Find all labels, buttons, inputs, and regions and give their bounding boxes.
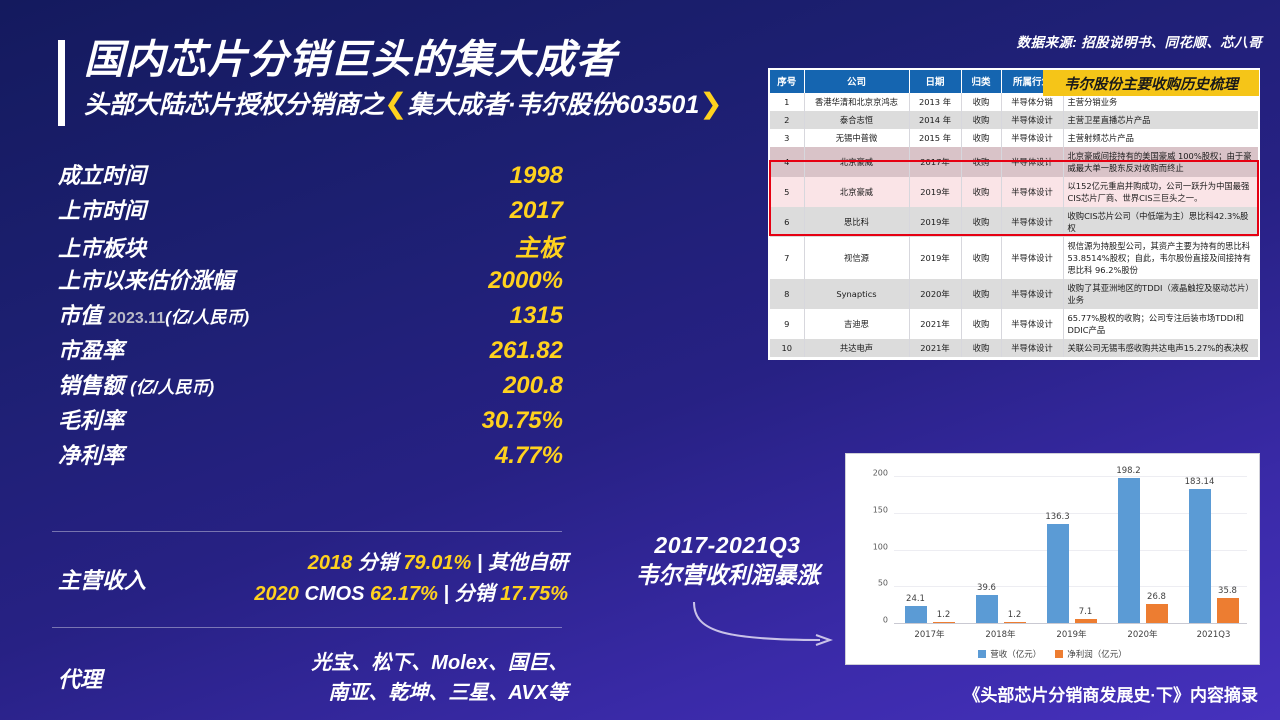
- bar-revenue: [1118, 478, 1140, 624]
- acquisition-table-container: 序号 公司 日期 归类 所属行业 1香港华清和北京京鸿志2013 年收购半导体分…: [768, 68, 1260, 360]
- stat-unit: (亿/人民币): [165, 308, 249, 327]
- page-header: 国内芯片分销巨头的集大成者 头部大陆芯片授权分销商之❮集大成者·韦尔股份6035…: [58, 36, 723, 121]
- chart-x-tick: 2020年: [1127, 628, 1157, 640]
- stat-unit: (亿/人民币): [130, 378, 214, 397]
- legend-label-profit: 净利润（亿元）: [1067, 648, 1127, 660]
- bar-label-revenue: 183.14: [1185, 477, 1215, 487]
- stat-row: 成立时间 1998: [58, 158, 563, 193]
- cell-industry: 半导体设计: [1001, 177, 1063, 207]
- bar-profit: [1146, 604, 1168, 624]
- bar-label-profit: 1.2: [1008, 610, 1022, 620]
- cell-type: 收购: [961, 339, 1001, 357]
- legend-swatch-revenue: [978, 650, 986, 658]
- cell-company: Synaptics: [804, 279, 909, 309]
- cell-industry: 半导体设计: [1001, 129, 1063, 147]
- cell-type: 收购: [961, 237, 1001, 279]
- stat-row: 上市以来估价涨幅 2000%: [58, 263, 563, 298]
- cell-no: 4: [770, 147, 804, 177]
- cell-desc: 视信源为持股型公司，其资产主要为持有的思比科53.8514%股权；自此，韦尔股份…: [1063, 237, 1258, 279]
- table-row: 8Synaptics2020年收购半导体设计收购了其亚洲地区的TDDI（液晶触控…: [770, 279, 1258, 309]
- revenue-sep: |: [443, 583, 449, 605]
- cell-desc: 收购了其亚洲地区的TDDI（液晶触控及驱动芯片）业务: [1063, 279, 1258, 309]
- agent-body: 光宝、松下、Molex、国巨、 南亚、乾坤、三星、AVX等: [208, 648, 568, 708]
- column-header-date: 日期: [909, 70, 961, 93]
- stat-label: 上市以来估价涨幅: [58, 263, 234, 295]
- bar-label-profit: 1.2: [937, 610, 951, 620]
- cell-industry: 半导体设计: [1001, 207, 1063, 237]
- cell-date: 2019年: [909, 207, 961, 237]
- cell-no: 7: [770, 237, 804, 279]
- chart-y-tick: 150: [856, 505, 888, 514]
- stat-value: 2017: [510, 197, 563, 225]
- cell-industry: 半导体设计: [1001, 111, 1063, 129]
- cell-type: 收购: [961, 147, 1001, 177]
- stat-value: 30.75%: [482, 407, 563, 435]
- legend-label-revenue: 营收（亿元）: [990, 648, 1041, 660]
- table-row: 2泰合志恒2014 年收购半导体设计主营卫星直播芯片产品: [770, 111, 1258, 129]
- agent-line-2: 南亚、乾坤、三星、AVX等: [208, 678, 568, 708]
- cell-date: 2019年: [909, 237, 961, 279]
- cell-no: 2: [770, 111, 804, 129]
- table-row: 6思比科2019年收购半导体设计收购CIS芯片公司（中低端为主）思比科42.3%…: [770, 207, 1258, 237]
- stat-label: 市盈率: [58, 333, 124, 365]
- curved-arrow-icon: [690, 600, 850, 650]
- table-banner: 韦尔股份主要收购历史梳理: [1043, 70, 1259, 96]
- cell-no: 5: [770, 177, 804, 207]
- main-revenue-label: 主营收入: [58, 563, 208, 595]
- subtitle-prefix: 头部大陆芯片授权分销商之: [84, 91, 384, 119]
- chart-y-tick: 200: [856, 469, 888, 478]
- stat-note: 2023.11: [108, 310, 165, 327]
- cell-company: 泰合志恒: [804, 111, 909, 129]
- stat-label: 销售额 (亿/人民币): [58, 368, 214, 400]
- legend-item-revenue: 营收（亿元）: [978, 648, 1041, 660]
- cell-company: 共达电声: [804, 339, 909, 357]
- legend-swatch-profit: [1055, 650, 1063, 658]
- revenue-year: 2018: [308, 552, 353, 574]
- revenue-seg1-name: CMOS: [304, 583, 364, 605]
- stat-label: 市值 2023.11(亿/人民币): [58, 298, 249, 330]
- stat-label: 上市板块: [58, 231, 146, 263]
- chart-x-tick: 2018年: [985, 628, 1015, 640]
- divider: [52, 627, 562, 628]
- cell-industry: 半导体设计: [1001, 279, 1063, 309]
- cell-date: 2021年: [909, 339, 961, 357]
- divider: [52, 531, 562, 532]
- table-row: 3无锡中普微2015 年收购半导体设计主营射频芯片产品: [770, 129, 1258, 147]
- cell-date: 2019年: [909, 177, 961, 207]
- chevron-left-icon: ❮: [384, 88, 407, 119]
- bar-label-revenue: 198.2: [1116, 466, 1140, 476]
- cell-desc: 主营卫星直播芯片产品: [1063, 111, 1258, 129]
- cell-no: 1: [770, 93, 804, 111]
- bar-label-revenue: 39.6: [977, 583, 996, 593]
- bar-label-revenue: 24.1: [906, 594, 925, 604]
- table-row: 10共达电声2021年收购半导体设计关联公司无锡韦感收购共达电声15.27%的表…: [770, 339, 1258, 357]
- cell-type: 收购: [961, 177, 1001, 207]
- chart-x-tick: 2021Q3: [1197, 630, 1231, 640]
- legend-item-profit: 净利润（亿元）: [1055, 648, 1127, 660]
- agent-label: 代理: [58, 662, 208, 694]
- chart-legend: 营收（亿元） 净利润（亿元）: [846, 648, 1259, 660]
- chart-annotation-line1: 2017-2021Q3: [620, 530, 835, 560]
- chart-axis-line: [894, 623, 1247, 624]
- cell-company: 香港华清和北京京鸿志: [804, 93, 909, 111]
- cell-date: 2015 年: [909, 129, 961, 147]
- stat-row: 销售额 (亿/人民币) 200.8: [58, 368, 563, 403]
- cell-type: 收购: [961, 93, 1001, 111]
- stat-value: 4.77%: [495, 442, 563, 470]
- title-accent-bar: [58, 40, 65, 126]
- chart-annotation-line2: 韦尔营收利润暴涨: [620, 560, 835, 590]
- cell-industry: 半导体设计: [1001, 309, 1063, 339]
- subtitle-highlight: 集大成者·韦尔股份603501: [407, 91, 699, 119]
- bar-label-profit: 26.8: [1147, 592, 1166, 602]
- data-source-label: 数据来源: 招股说明书、同花顺、芯八哥: [1017, 31, 1262, 51]
- stat-value: 1998: [510, 162, 563, 190]
- page-title: 国内芯片分销巨头的集大成者: [84, 36, 723, 84]
- cell-type: 收购: [961, 111, 1001, 129]
- revenue-line-2020: 2020 CMOS 62.17% | 分销 17.75%: [208, 579, 568, 610]
- revenue-line-2018: 2018 分销 79.01% | 其他自研: [208, 548, 568, 579]
- bar-revenue: [1047, 524, 1069, 624]
- stat-value: 200.8: [503, 372, 563, 400]
- cell-no: 3: [770, 129, 804, 147]
- stat-row: 净利率 4.77%: [58, 438, 563, 473]
- stat-row: 市盈率 261.82: [58, 333, 563, 368]
- cell-type: 收购: [961, 279, 1001, 309]
- revenue-seg2-name: 分销: [455, 583, 495, 605]
- cell-company: 视信源: [804, 237, 909, 279]
- revenue-seg1-name: 分销: [358, 552, 398, 574]
- column-header-no: 序号: [770, 70, 804, 93]
- bar-revenue: [905, 606, 927, 624]
- page-subtitle: 头部大陆芯片授权分销商之❮集大成者·韦尔股份603501❯: [84, 88, 723, 121]
- revenue-sep: |: [477, 552, 483, 574]
- cell-type: 收购: [961, 309, 1001, 339]
- cell-desc: 65.77%股权的收购；公司专注后装市场TDDI和DDIC产品: [1063, 309, 1258, 339]
- bar-label-profit: 35.8: [1218, 586, 1237, 596]
- cell-date: 2017年: [909, 147, 961, 177]
- bar-label-revenue: 136.3: [1045, 512, 1069, 522]
- chart-annotation: 2017-2021Q3 韦尔营收利润暴涨: [620, 530, 835, 590]
- acquisition-table: 序号 公司 日期 归类 所属行业 1香港华清和北京京鸿志2013 年收购半导体分…: [770, 70, 1258, 357]
- column-header-type: 归类: [961, 70, 1001, 93]
- cell-desc: 关联公司无锡韦感收购共达电声15.27%的表决权: [1063, 339, 1258, 357]
- main-revenue-block: 主营收入 2018 分销 79.01% | 其他自研 2020 CMOS 62.…: [58, 548, 568, 610]
- main-revenue-body: 2018 分销 79.01% | 其他自研 2020 CMOS 62.17% |…: [208, 548, 568, 610]
- stat-label: 净利率: [58, 438, 124, 470]
- stat-row: 上市板块 主板: [58, 228, 563, 263]
- cell-date: 2020年: [909, 279, 961, 309]
- revenue-seg2-value: 17.75%: [500, 583, 568, 605]
- cell-industry: 半导体设计: [1001, 237, 1063, 279]
- column-header-company: 公司: [804, 70, 909, 93]
- revenue-seg2-name: 其他自研: [488, 552, 568, 574]
- cell-date: 2013 年: [909, 93, 961, 111]
- stat-value: 2000%: [488, 267, 563, 295]
- agent-line-1: 光宝、松下、Molex、国巨、: [208, 648, 568, 678]
- revenue-profit-chart: 05010015020024.11.22017年39.61.22018年136.…: [845, 453, 1260, 665]
- cell-desc: 以152亿元重启并购成功，公司一跃升为中国最强CIS芯片厂商、世界CIS三巨头之…: [1063, 177, 1258, 207]
- chart-y-tick: 50: [856, 579, 888, 588]
- stat-value: 261.82: [490, 337, 563, 365]
- stat-value: 1315: [510, 302, 563, 330]
- cell-no: 8: [770, 279, 804, 309]
- table-row: 9吉迪思2021年收购半导体设计65.77%股权的收购；公司专注后装市场TDDI…: [770, 309, 1258, 339]
- cell-industry: 半导体设计: [1001, 339, 1063, 357]
- stats-list: 成立时间 1998 上市时间 2017 上市板块 主板 上市以来估价涨幅 200…: [58, 158, 563, 473]
- cell-company: 北京豪威: [804, 147, 909, 177]
- table-row: 4北京豪威2017年收购半导体设计北京豪威间接持有的美国豪威 100%股权；由于…: [770, 147, 1258, 177]
- bar-revenue: [1189, 489, 1211, 624]
- stat-label: 成立时间: [58, 158, 146, 190]
- bar-revenue: [976, 595, 998, 624]
- cell-date: 2014 年: [909, 111, 961, 129]
- revenue-year: 2020: [254, 583, 299, 605]
- chart-y-tick: 100: [856, 542, 888, 551]
- cell-desc: 北京豪威间接持有的美国豪威 100%股权；由于豪威最大单一股东反对收购而终止: [1063, 147, 1258, 177]
- cell-company: 无锡中普微: [804, 129, 909, 147]
- cell-desc: 收购CIS芯片公司（中低端为主）思比科42.3%股权: [1063, 207, 1258, 237]
- stat-value: 主板: [515, 228, 563, 263]
- bar-profit: [1217, 598, 1239, 624]
- cell-industry: 半导体设计: [1001, 147, 1063, 177]
- stat-row: 上市时间 2017: [58, 193, 563, 228]
- bar-label-profit: 7.1: [1079, 607, 1093, 617]
- cell-company: 吉迪思: [804, 309, 909, 339]
- revenue-seg1-value: 62.17%: [370, 583, 438, 605]
- footer-note: 《头部芯片分销商发展史·下》内容摘录: [963, 681, 1258, 706]
- table-body: 1香港华清和北京京鸿志2013 年收购半导体分销主营分销业务2泰合志恒2014 …: [770, 93, 1258, 357]
- chart-x-tick: 2017年: [914, 628, 944, 640]
- chevron-right-icon: ❯: [699, 88, 722, 119]
- cell-type: 收购: [961, 207, 1001, 237]
- chart-plot-area: 05010015020024.11.22017年39.61.22018年136.…: [846, 454, 1259, 664]
- table-row: 7视信源2019年收购半导体设计视信源为持股型公司，其资产主要为持有的思比科53…: [770, 237, 1258, 279]
- cell-type: 收购: [961, 129, 1001, 147]
- table-row: 5北京豪威2019年收购半导体设计以152亿元重启并购成功，公司一跃升为中国最强…: [770, 177, 1258, 207]
- stat-label: 上市时间: [58, 193, 146, 225]
- cell-date: 2021年: [909, 309, 961, 339]
- chart-x-tick: 2019年: [1056, 628, 1086, 640]
- cell-no: 10: [770, 339, 804, 357]
- agent-block: 代理 光宝、松下、Molex、国巨、 南亚、乾坤、三星、AVX等: [58, 648, 568, 708]
- cell-no: 9: [770, 309, 804, 339]
- cell-company: 思比科: [804, 207, 909, 237]
- cell-company: 北京豪威: [804, 177, 909, 207]
- cell-no: 6: [770, 207, 804, 237]
- cell-desc: 主营射频芯片产品: [1063, 129, 1258, 147]
- stat-label: 毛利率: [58, 403, 124, 435]
- revenue-seg1-value: 79.01%: [403, 552, 471, 574]
- stat-row: 市值 2023.11(亿/人民币) 1315: [58, 298, 563, 333]
- stat-row: 毛利率 30.75%: [58, 403, 563, 438]
- chart-y-tick: 0: [856, 616, 888, 625]
